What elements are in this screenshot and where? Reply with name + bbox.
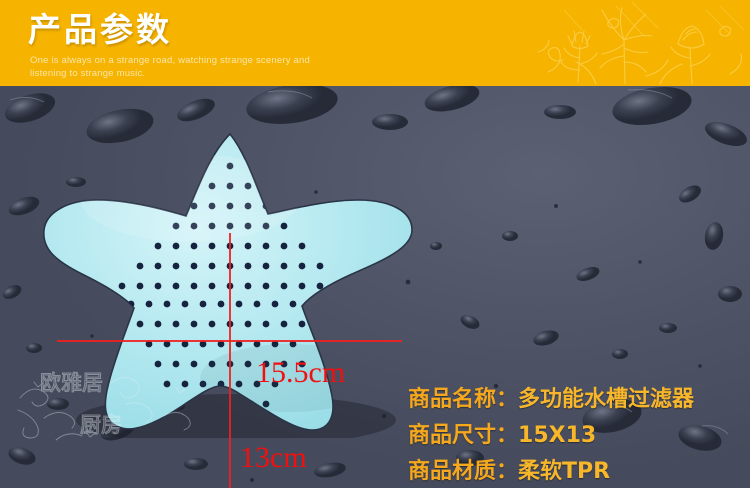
height-measure-label: 13cm [240,443,307,473]
page-title: 产品参数 [28,12,172,48]
spec-label-name: 商品名称： [408,387,518,412]
header-subtitle: One is always on a strange road, watchin… [30,54,330,80]
spec-value-size: 15X13 [518,423,596,448]
header-banner: 产品参数 One is always on a strange road, wa… [0,0,750,86]
spec-row-material: 商品材质：柔软TPR [408,454,738,488]
product-spec-infographic: 产品参数 One is always on a strange road, wa… [0,0,750,488]
floral-ornament-icon [520,0,750,86]
width-measure-label: 15.5cm [256,358,345,388]
spec-value-material: 柔软TPR [518,459,610,484]
spec-row-size: 商品尺寸：15X13 [408,418,738,454]
spec-list: 商品名称：多功能水槽过滤器 商品尺寸：15X13 商品材质：柔软TPR 颜色可选… [408,382,738,488]
height-measure-line [229,233,231,488]
spec-row-name: 商品名称：多功能水槽过滤器 [408,382,738,418]
spec-label-size: 商品尺寸： [408,423,518,448]
product-photo: 欧雅居 厨房 15.5cm 13cm 商品名称：多功能水槽过滤器 商品尺寸：15… [0,86,750,488]
spec-value-name: 多功能水槽过滤器 [518,387,694,412]
spec-label-material: 商品材质： [408,459,518,484]
